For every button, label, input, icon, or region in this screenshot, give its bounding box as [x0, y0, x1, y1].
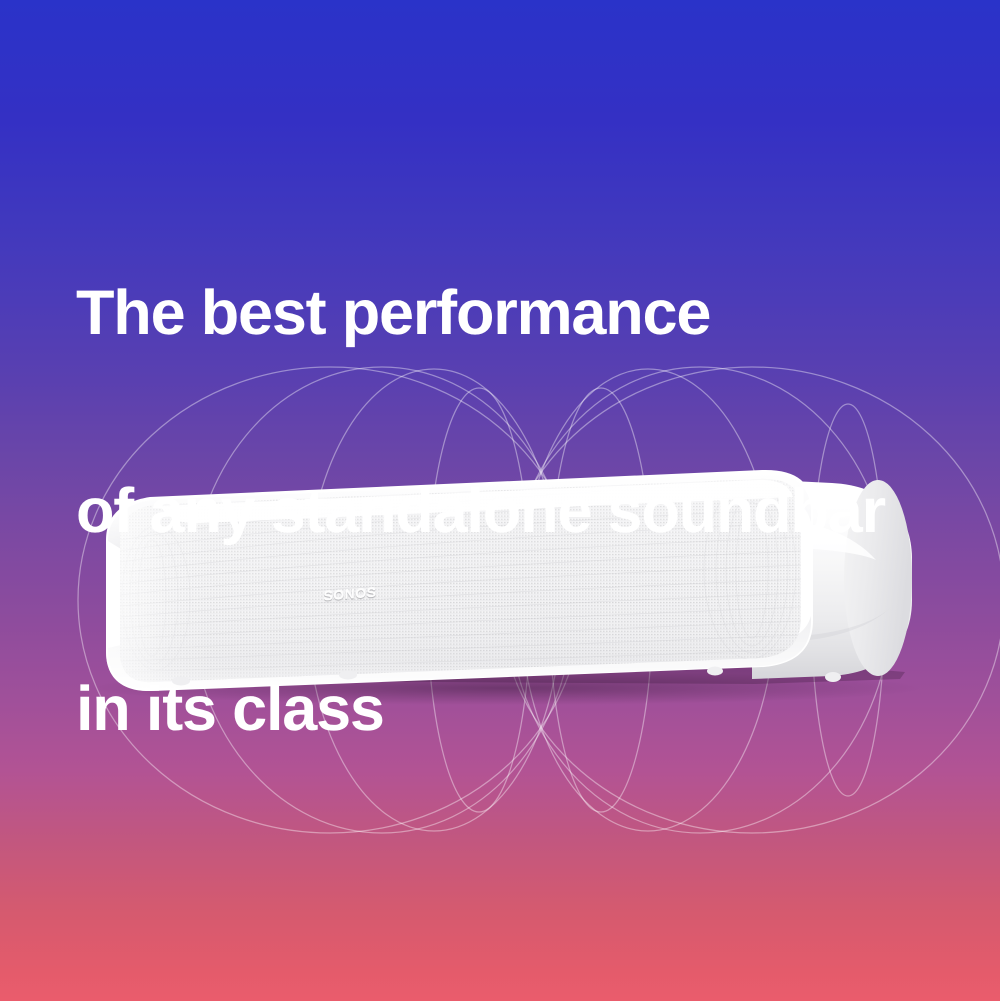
page-title: The best performance of any standalone s…	[76, 148, 885, 874]
headline-line-2: of any standalone soundbar	[76, 478, 885, 544]
headline-line-1: The best performance	[76, 280, 885, 346]
hero-banner: SONOS The best performance of any standa…	[0, 0, 1000, 1001]
headline-line-3: in its class	[76, 676, 885, 742]
